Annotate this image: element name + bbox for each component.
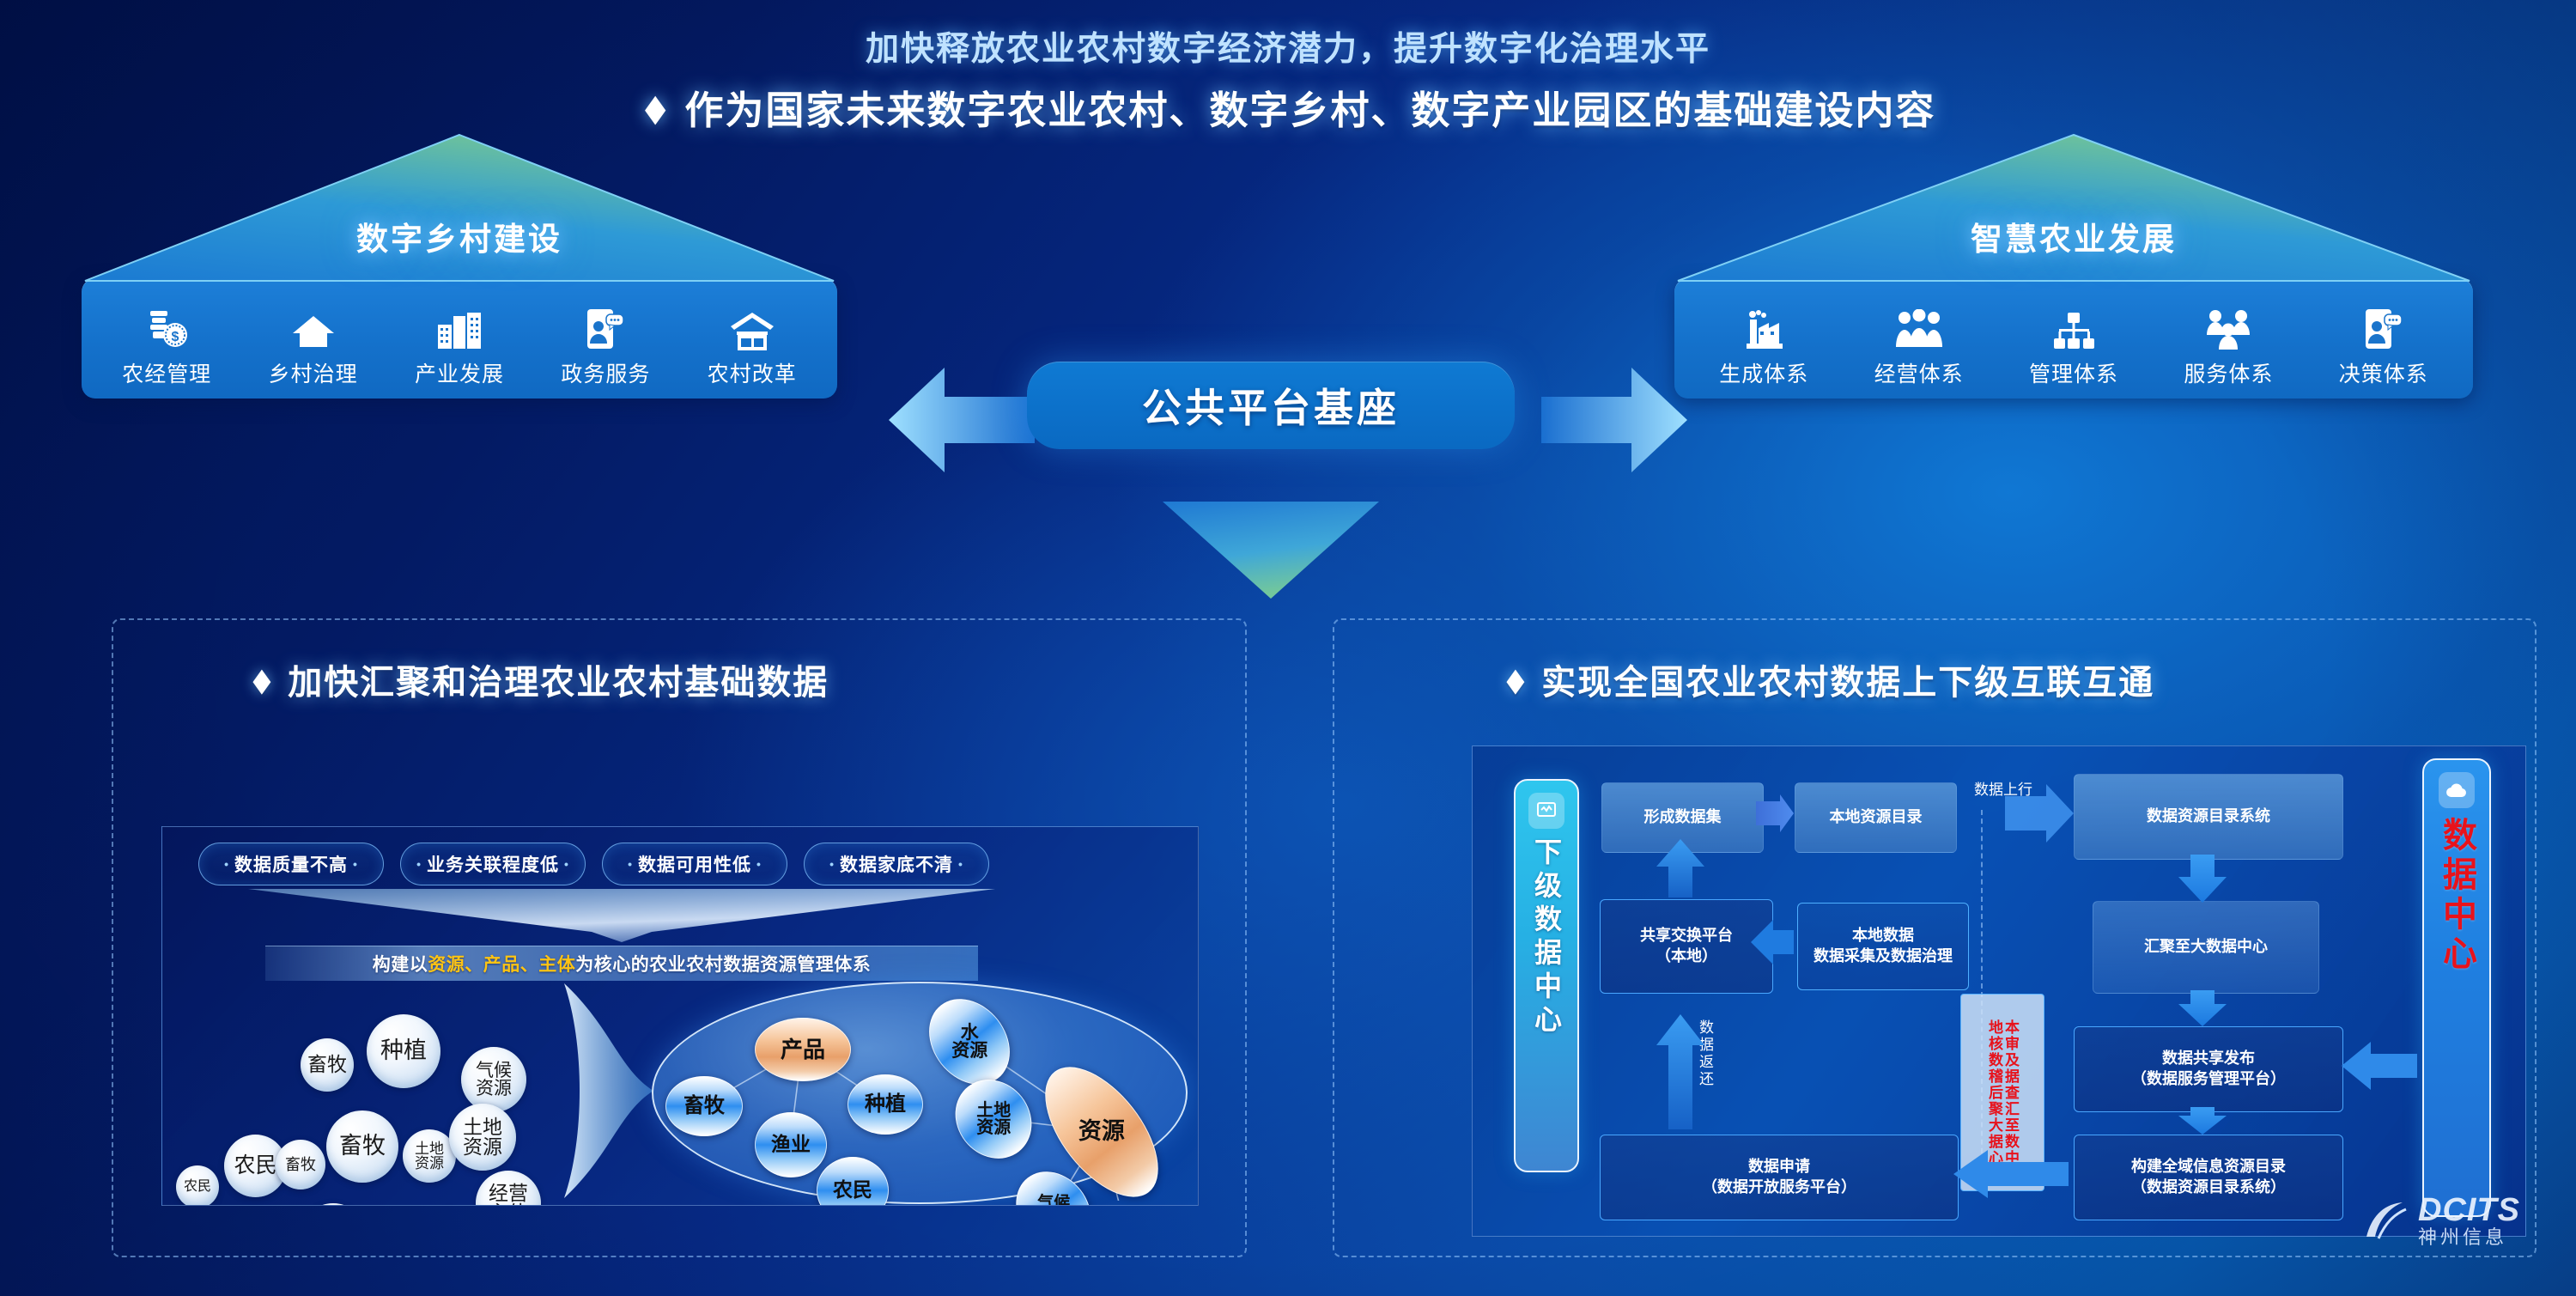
arrow-right-icon [1537, 364, 1692, 476]
logo-mark-icon [2361, 1199, 2409, 1242]
cloud-bubble: 种植 [367, 1014, 440, 1088]
transition-arrow-icon [559, 983, 662, 1198]
panel-left-header-text: 加快汇聚和治理农业农村基础数据 [288, 664, 829, 702]
house-left-item-label-3: 政务服务 [561, 357, 650, 388]
structured-bubble: 渔业 [755, 1112, 827, 1177]
house-left-title: 数字乡村建设 [82, 213, 837, 259]
banner-pre: 构建以 [373, 951, 428, 977]
banner-hl-2: 产品、 [483, 951, 539, 977]
house-right-item-label-4: 决策体系 [2339, 357, 2428, 388]
house-right-title: 智慧农业发展 [1674, 213, 2473, 259]
cloud-bubble: 土地 资源 [403, 1129, 456, 1183]
house-right-item-2[interactable]: 管理体系 [2031, 302, 2117, 388]
flow-arrows-layer [1473, 746, 2525, 1236]
company-logo: DCITS 神州信息 [2361, 1194, 2520, 1247]
bullet-dot-icon: • [829, 857, 835, 871]
house-right-item-3[interactable]: 服务体系 [2185, 302, 2271, 388]
coins-money-icon: $ [143, 302, 190, 350]
house-left-item-0[interactable]: $ 农经管理 [124, 302, 210, 388]
page-subtitle-text: 作为国家未来数字农业农村、数字乡村、数字产业园区的基础建设内容 [684, 88, 1935, 132]
panel-right-inner: 下级数据中心 数据中心 形成数据集 本地资源目录 数据资源目录系统 共享交换平台… [1472, 745, 2526, 1237]
panel-left-header: ◆加快汇聚和治理农业农村基础数据 [249, 654, 829, 704]
unstructured-bubble-cloud: 畜牧种植气候 资源畜牧土地 资源土地 资源农民畜牧农民经营 主体农村农村经营 主… [171, 983, 592, 1198]
core-system-banner: 构建以资源、产品、主体为核心的农业农村数据资源管理体系 [265, 946, 978, 981]
house-right: 智慧农业发展 生成体系 经营体 [1674, 133, 2473, 399]
structured-bubble: 产品 [755, 1018, 851, 1081]
arrow-down-icon [1161, 500, 1381, 601]
issue-pill-1[interactable]: •业务关联程度低• [400, 843, 586, 885]
house-right-item-1[interactable]: 经营体系 [1876, 302, 1962, 388]
issue-pill-label-2: 数据可用性低 [638, 851, 751, 877]
people-group-icon [1894, 302, 1944, 350]
structured-bubble-group: 产品水 资源资源畜牧种植土地 资源渔业农民气候 资源主体生物 资源农村经营 主体 [652, 982, 1184, 1201]
cloud-bubble: 畜牧 [326, 1110, 398, 1183]
mobile-decision-icon [2364, 302, 2403, 350]
cloud-bubble: 经营 主体 [476, 1171, 541, 1206]
issue-pill-label-0: 数据质量不高 [234, 851, 348, 877]
house-right-item-label-2: 管理体系 [2029, 357, 2118, 388]
structured-bubble: 种植 [848, 1074, 923, 1135]
house-left-item-label-0: 农经管理 [122, 357, 211, 388]
house-left-item-label-4: 农村改革 [708, 357, 797, 388]
house-left-item-1[interactable]: 乡村治理 [270, 302, 356, 388]
page-title: 加快释放农业农村数字经济潜力，提升数字化治理水平 [0, 22, 2576, 70]
panel-right-header-text: 实现全国农业农村数据上下级互联互通 [1541, 664, 2154, 702]
platform-base-card[interactable]: 公共平台基座 [1027, 362, 1515, 449]
logo-en: DCITS [2418, 1194, 2520, 1226]
house-right-item-label-1: 经营体系 [1874, 357, 1964, 388]
structured-bubble: 畜牧 [665, 1076, 743, 1136]
logo-cn: 神州信息 [2418, 1228, 2520, 1247]
house-left-roof: 数字乡村建设 [82, 133, 837, 283]
house-left-base: $ 农经管理 乡村治理 产业发展 [82, 278, 837, 399]
house-left-item-4[interactable]: 农村改革 [709, 302, 795, 388]
house-left-item-label-2: 产业发展 [415, 357, 504, 388]
bullet-dot-icon: • [958, 857, 963, 871]
house-right-item-4[interactable]: 决策体系 [2341, 302, 2427, 388]
diamond-bullet-icon: ◆ [1506, 660, 1525, 699]
bullet-dot-icon: • [564, 857, 569, 871]
svg-text:$: $ [172, 330, 179, 344]
page-subtitle: ◆作为国家未来数字农业农村、数字乡村、数字产业园区的基础建设内容 [0, 79, 2576, 135]
bullet-dot-icon: • [416, 857, 422, 871]
house-right-base: 生成体系 经营体系 管理体系 [1674, 278, 2473, 399]
cloud-bubble: 土地 资源 [449, 1104, 516, 1171]
banner-hl-3: 主体 [538, 951, 575, 977]
cloud-bubble: 畜牧 [276, 1140, 325, 1190]
issue-pill-label-1: 业务关联程度低 [427, 851, 559, 877]
barn-icon [729, 302, 775, 350]
arrow-left-icon [884, 364, 1039, 476]
bullet-dot-icon: • [756, 857, 762, 871]
house-right-item-label-3: 服务体系 [2184, 357, 2273, 388]
issue-pill-3[interactable]: •数据家底不清• [804, 843, 989, 885]
house-right-item-label-0: 生成体系 [1719, 357, 1808, 388]
factory-icon [1741, 302, 1786, 350]
panel-right-header: ◆实现全国农业农村数据上下级互联互通 [1503, 654, 2154, 704]
house-left: 数字乡村建设 $ 农经管理 乡村治理 [82, 133, 837, 399]
diamond-bullet-icon: ◆ [252, 660, 271, 699]
funnel-shape-icon [248, 887, 995, 944]
mobile-service-icon [586, 302, 625, 350]
people-service-icon [2204, 302, 2252, 350]
platform-base-label: 公共平台基座 [1142, 377, 1400, 434]
bullet-dot-icon: • [628, 857, 633, 871]
panel-left-inner: •数据质量不高• •业务关联程度低• •数据可用性低• •数据家底不清• 构建以… [161, 826, 1199, 1206]
logo-text: DCITS 神州信息 [2418, 1194, 2520, 1247]
cloud-bubble: 畜牧 [301, 1038, 354, 1092]
bullet-dot-icon: • [353, 857, 358, 871]
issue-pill-label-3: 数据家底不清 [840, 851, 953, 877]
house-left-item-3[interactable]: 政务服务 [562, 302, 648, 388]
house-left-item-label-1: 乡村治理 [269, 357, 358, 388]
org-chart-icon [2050, 302, 2097, 350]
diamond-bullet-icon: ◆ [645, 86, 667, 130]
cloud-bubble: 气候 资源 [461, 1047, 526, 1112]
banner-post: 为核心的农业农村数据资源管理体系 [575, 951, 871, 977]
house-icon [291, 302, 336, 350]
bullet-dot-icon: • [224, 857, 229, 871]
banner-hl-1: 资源、 [428, 951, 483, 977]
house-left-item-2[interactable]: 产业发展 [416, 302, 502, 388]
buildings-icon [436, 302, 483, 350]
issue-pill-2[interactable]: •数据可用性低• [602, 843, 787, 885]
cloud-bubble: 农村 [300, 1203, 367, 1206]
house-right-roof: 智慧农业发展 [1674, 133, 2473, 283]
house-right-item-0[interactable]: 生成体系 [1721, 302, 1807, 388]
issue-pill-0[interactable]: •数据质量不高• [198, 843, 384, 885]
cloud-bubble: 农民 [176, 1165, 219, 1206]
